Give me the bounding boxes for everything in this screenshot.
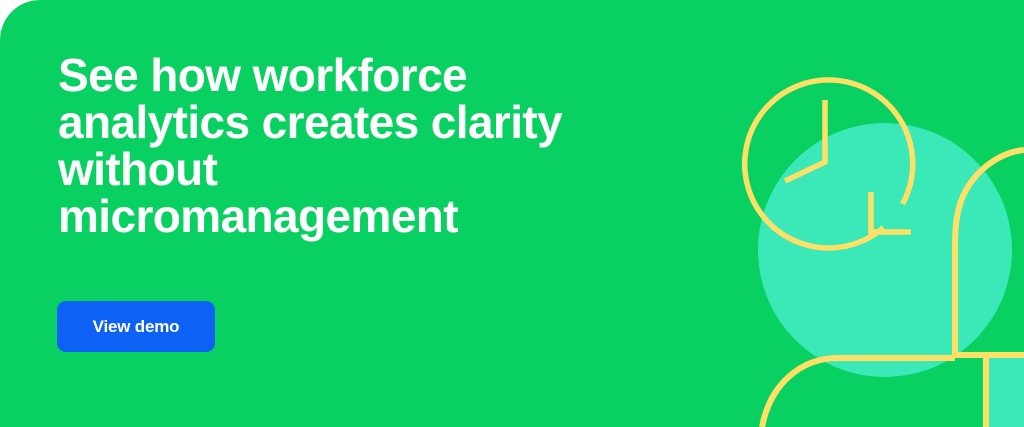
headline-block: See how workforce analytics creates clar… (58, 52, 698, 240)
yellow-clock-hands (785, 100, 825, 181)
teal-blob-circle (758, 123, 1012, 377)
view-demo-button[interactable]: View demo (57, 301, 215, 352)
page-title: See how workforce analytics creates clar… (58, 52, 698, 240)
cta-container: View demo (57, 301, 215, 352)
yellow-arrow-head (871, 192, 911, 232)
promo-banner: See how workforce analytics creates clar… (0, 0, 1024, 427)
yellow-rounded-rect-outline (955, 150, 1024, 355)
yellow-lower-curve (762, 358, 955, 427)
yellow-clock-arc (745, 80, 913, 248)
teal-corner-square (986, 355, 1024, 427)
